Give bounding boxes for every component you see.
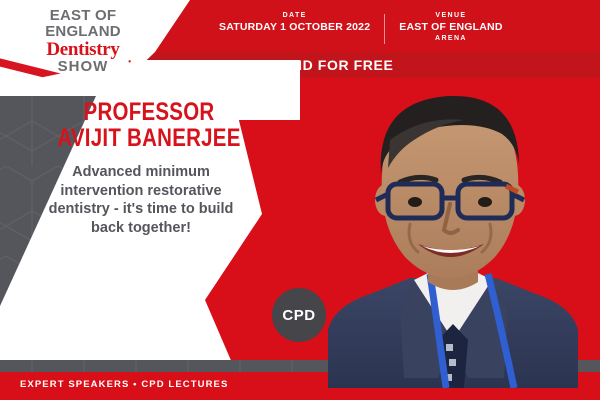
speaker-fullname: AVIJIT BANERJEE bbox=[55, 126, 244, 152]
venue-block: VENUE EAST OF ENGLAND ARENA bbox=[385, 12, 516, 42]
event-logo[interactable]: EAST OF ENGLAND Dentistry SHOW • bbox=[28, 8, 138, 74]
logo-line-2: ENGLAND bbox=[28, 24, 138, 39]
logo-show-text: SHOW bbox=[58, 58, 109, 75]
date-label: DATE bbox=[219, 12, 370, 19]
logo-script-word: Dentistry bbox=[28, 40, 138, 59]
speaker-photo bbox=[318, 78, 588, 388]
footer-text: EXPERT SPEAKERS • CPD LECTURES bbox=[20, 379, 228, 390]
logo-line-3: SHOW • bbox=[28, 59, 138, 74]
talk-description: Advanced minimum intervention restorativ… bbox=[48, 163, 234, 237]
venue-label: VENUE bbox=[399, 12, 502, 19]
logo-line-1: EAST OF bbox=[28, 8, 138, 23]
venue-value: EAST OF ENGLAND bbox=[399, 21, 502, 33]
header-info: DATE SATURDAY 1 OCTOBER 2022 VENUE EAST … bbox=[205, 12, 517, 44]
signup-cta[interactable]: SIGN UP NOW ATTEND FOR FREE bbox=[148, 57, 393, 73]
speaker-name: PROFESSOR AVIJIT BANERJEE bbox=[34, 100, 264, 151]
date-value: SATURDAY 1 OCTOBER 2022 bbox=[219, 21, 370, 33]
speaker-portrait-illustration bbox=[318, 78, 588, 388]
trademark-icon: • bbox=[128, 58, 132, 66]
cpd-badge: CPD bbox=[272, 288, 326, 342]
date-block: DATE SATURDAY 1 OCTOBER 2022 bbox=[205, 12, 384, 33]
event-promo-banner: EAST OF ENGLAND Dentistry SHOW • DATE SA… bbox=[0, 0, 600, 400]
speaker-title: PROFESSOR bbox=[55, 100, 244, 126]
venue-sub-value: ARENA bbox=[399, 35, 502, 42]
